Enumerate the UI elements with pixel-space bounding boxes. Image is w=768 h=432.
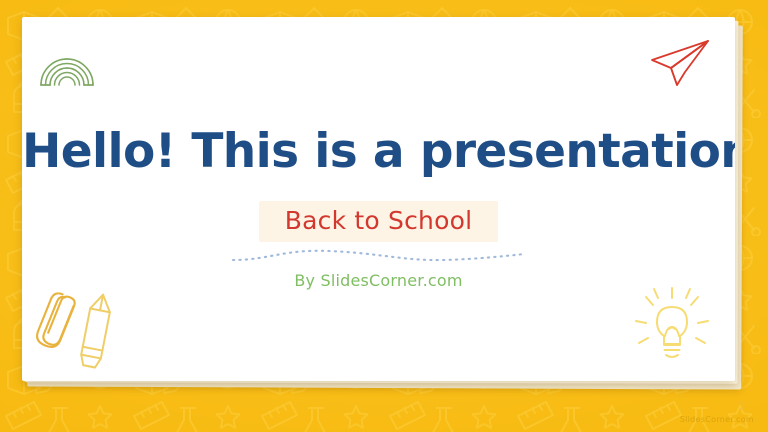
byline: By SlidesCorner.com: [22, 271, 735, 290]
paper-plane-icon: [647, 35, 713, 91]
lightbulb-icon: [633, 285, 711, 367]
divider-container: [22, 244, 735, 270]
wavy-dotted-divider-icon: [229, 244, 529, 270]
paperclip-icon: [32, 287, 86, 357]
slide-card: Hello! This is a presentation Back to Sc…: [22, 17, 735, 381]
slide-screenshot: Hello! This is a presentation Back to Sc…: [0, 0, 768, 432]
page-number: 1: [739, 401, 745, 412]
page-title: Hello! This is a presentation: [22, 127, 735, 177]
subtitle-container: Back to School: [22, 201, 735, 242]
slide-content: Hello! This is a presentation Back to Sc…: [22, 127, 735, 290]
pencil-icon: [70, 289, 122, 373]
watermark: SlidesCorner.com: [680, 415, 754, 424]
slide-subtitle: Back to School: [259, 201, 498, 242]
rainbow-icon: [38, 39, 100, 91]
